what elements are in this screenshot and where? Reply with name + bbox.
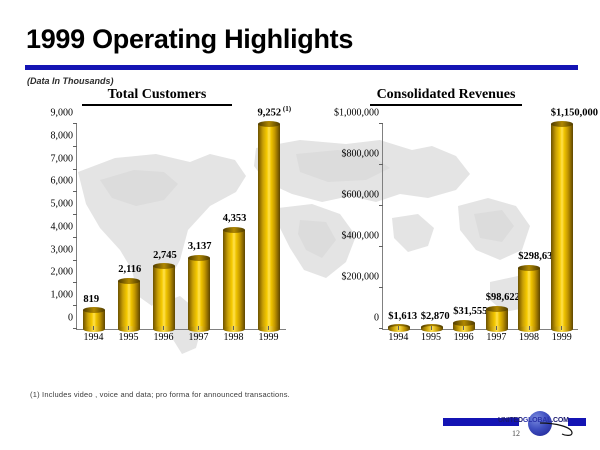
x-axis-label: 1996	[146, 332, 181, 350]
y-axis-label: $800,000	[342, 149, 380, 160]
y-axis-label: $200,000	[342, 272, 380, 283]
x-axis-label: 1997	[480, 332, 513, 350]
y-axis-label: 8,000	[51, 130, 74, 141]
y-axis-label: 9,000	[51, 108, 74, 119]
x-axis-tick-cell	[513, 326, 546, 330]
y-axis-tick	[379, 164, 383, 165]
x-axis-tick-cell	[251, 326, 286, 330]
page-number: 12	[512, 429, 520, 438]
y-axis-tick	[379, 205, 383, 206]
chart-title-consolidated-revenues: Consolidated Revenues	[370, 87, 522, 106]
y-axis-label: 1,000	[51, 290, 74, 301]
bar-slot: $298,633	[513, 124, 546, 329]
x-axis-ticks-total-customers	[76, 326, 286, 330]
x-axis-consolidated-revenues: 199419951996199719981999	[382, 332, 578, 350]
x-axis-tick	[398, 326, 399, 330]
x-axis-tick-cell	[146, 326, 181, 330]
y-axis-tick	[73, 169, 77, 170]
bar-slot: 2,745	[147, 124, 182, 329]
x-axis-tick	[496, 326, 497, 330]
x-axis-tick	[233, 326, 234, 330]
y-axis-label: 6,000	[51, 176, 74, 187]
bar-value-label: 2,116	[118, 265, 141, 276]
y-axis-tick	[379, 123, 383, 124]
page-title: 1999 Operating Highlights	[26, 24, 353, 55]
x-axis-label: 1994	[76, 332, 111, 350]
x-axis-tick	[128, 326, 129, 330]
bar-slot: $31,555	[448, 124, 481, 329]
x-axis-label: 1994	[382, 332, 415, 350]
bar: 2,745	[153, 266, 175, 329]
y-axis-tick	[73, 146, 77, 147]
chart-title-left-text: Total Customers	[82, 87, 232, 103]
bar-value-label: 4,353	[223, 214, 247, 225]
x-axis-tick	[463, 326, 464, 330]
y-axis-tick	[379, 246, 383, 247]
logo-wordmark: UNITEDGLOBAL.COM	[498, 417, 569, 424]
y-axis-tick	[73, 214, 77, 215]
plot-area-consolidated-revenues: $1,613$2,870$31,555$98,622$298,633$1,150…	[382, 124, 578, 330]
y-axis-label: $400,000	[342, 231, 380, 242]
y-axis-label: 5,000	[51, 199, 74, 210]
y-axis-tick	[73, 305, 77, 306]
x-axis-label: 1995	[111, 332, 146, 350]
bar: $1,150,000 (1)	[551, 124, 573, 329]
x-axis-tick-cell	[382, 326, 415, 330]
chart-title-right-underline	[370, 104, 522, 106]
bar-slot: 3,137	[181, 124, 216, 329]
x-axis-label: 1999	[545, 332, 578, 350]
presentation-slide: 1999 Operating Highlights (Data In Thous…	[0, 0, 600, 450]
x-axis-tick-cell	[111, 326, 146, 330]
bar-slot: 9,252 (1)	[251, 124, 286, 329]
bar-slot: 4,353	[216, 124, 251, 329]
x-axis-tick	[268, 326, 269, 330]
y-axis-tick	[73, 237, 77, 238]
chart-consolidated-revenues: $1,613$2,870$31,555$98,622$298,633$1,150…	[310, 118, 582, 358]
x-axis-tick-cell	[447, 326, 480, 330]
logo-text-com: .COM	[551, 417, 568, 424]
title-divider	[25, 65, 578, 70]
bar-value-label: 2,745	[153, 251, 177, 262]
bar-value-label: $1,150,000 (1)	[551, 106, 600, 119]
bar-slot: $2,870	[416, 124, 449, 329]
bar: 3,137	[188, 258, 210, 329]
x-axis-tick-cell	[181, 326, 216, 330]
bar-group-total-customers: 8192,1162,7453,1374,3539,252 (1)	[77, 124, 286, 329]
x-axis-tick	[561, 326, 562, 330]
x-axis-label: 1995	[415, 332, 448, 350]
bar-slot: $1,150,000 (1)	[546, 124, 579, 329]
x-axis-total-customers: 199419951996199719981999	[76, 332, 286, 350]
bar-value-label: 3,137	[188, 242, 212, 253]
chart-title-total-customers: Total Customers	[82, 87, 232, 106]
x-axis-label: 1998	[513, 332, 546, 350]
x-axis-ticks-consolidated-revenues	[382, 326, 578, 330]
x-axis-label: 1998	[216, 332, 251, 350]
bar: 4,353	[223, 230, 245, 329]
bar-group-consolidated-revenues: $1,613$2,870$31,555$98,622$298,633$1,150…	[383, 124, 578, 329]
x-axis-label: 1996	[447, 332, 480, 350]
bar-slot: 819	[77, 124, 112, 329]
bar-slot: $98,622	[481, 124, 514, 329]
plot-area-total-customers: 8192,1162,7453,1374,3539,252 (1) 01,0002…	[76, 124, 286, 330]
y-axis-label: $1,000,000	[334, 108, 379, 119]
y-axis-label: 7,000	[51, 153, 74, 164]
x-axis-tick-cell	[216, 326, 251, 330]
y-axis-tick	[73, 282, 77, 283]
logo-text-global: GLOBAL	[523, 417, 551, 424]
bar-value-label: 9,252 (1)	[258, 106, 292, 119]
bar-value-label: $2,870	[421, 312, 450, 323]
x-axis-label: 1999	[251, 332, 286, 350]
bar: 9,252 (1)	[258, 124, 280, 329]
bar-slot: $1,613	[383, 124, 416, 329]
x-axis-tick-cell	[415, 326, 448, 330]
bar: $298,633	[518, 268, 540, 329]
y-axis-tick	[73, 191, 77, 192]
bar-value-label: 819	[83, 295, 99, 306]
y-axis-label: $600,000	[342, 190, 380, 201]
x-axis-tick	[163, 326, 164, 330]
x-axis-tick-cell	[545, 326, 578, 330]
logo-text-united: UNITED	[498, 417, 523, 424]
bar: 2,116	[118, 281, 140, 329]
x-axis-tick-cell	[76, 326, 111, 330]
footnote-marker: (1)	[281, 105, 291, 113]
bar-slot: 2,116	[112, 124, 147, 329]
y-axis-tick	[379, 287, 383, 288]
y-axis-label: 0	[68, 313, 73, 324]
footnote: (1) Includes video , voice and data; pro…	[30, 390, 290, 399]
y-axis-tick	[73, 260, 77, 261]
chart-title-left-underline	[82, 104, 232, 106]
x-axis-tick	[198, 326, 199, 330]
bar-value-label: $1,613	[388, 312, 417, 323]
y-axis-label: 4,000	[51, 221, 74, 232]
x-axis-tick	[431, 326, 432, 330]
data-units-note: (Data In Thousands)	[27, 76, 114, 86]
x-axis-tick	[529, 326, 530, 330]
y-axis-label: 3,000	[51, 244, 74, 255]
unitedglobal-logo: UNITEDGLOBAL.COM	[498, 411, 584, 437]
chart-total-customers: 8192,1162,7453,1374,3539,252 (1) 01,0002…	[18, 118, 290, 358]
x-axis-label: 1997	[181, 332, 216, 350]
y-axis-tick	[73, 123, 77, 124]
x-axis-tick	[93, 326, 94, 330]
y-axis-label: 2,000	[51, 267, 74, 278]
x-axis-tick-cell	[480, 326, 513, 330]
chart-title-right-text: Consolidated Revenues	[370, 87, 522, 103]
y-axis-label: 0	[374, 313, 379, 324]
